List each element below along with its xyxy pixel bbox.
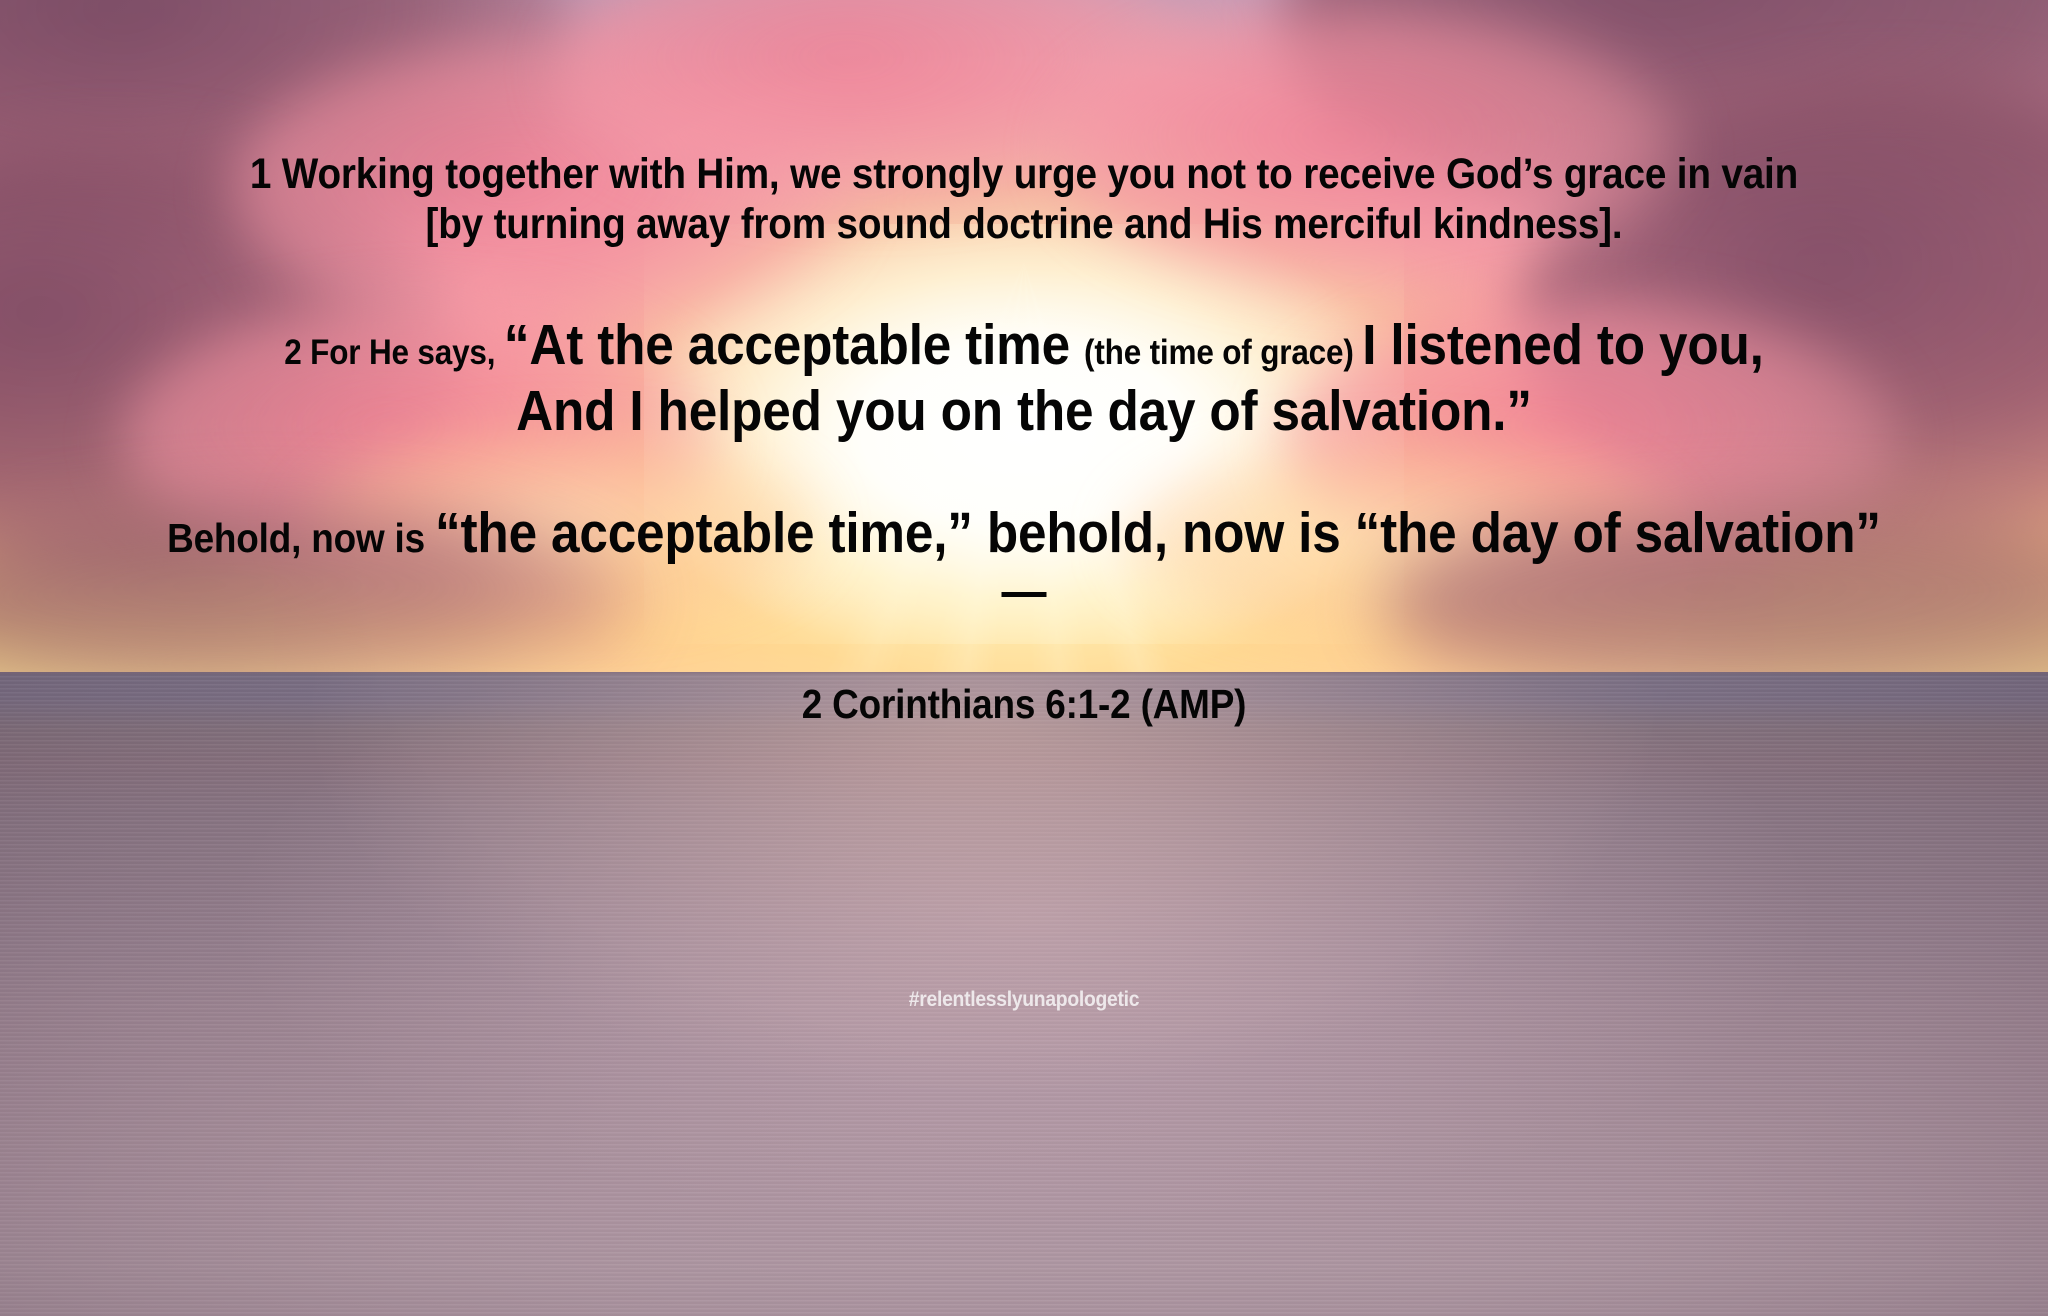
text-overlay: 1 Working together with Him, we strongly… (0, 0, 2048, 1316)
verse-2-parenthetical-text: (the time of grace) (1084, 333, 1362, 372)
verse-1-line-1: 1 Working together with Him, we strongly… (102, 150, 1945, 200)
verse-1-line-2: [by turning away from sound doctrine and… (102, 200, 1945, 250)
hashtag-watermark: #relentlesslyunapologetic (82, 988, 1966, 1012)
behold-quote-text: “the acceptable time,” behold, now is “t… (435, 501, 1881, 565)
verse-2-line-2: And I helped you on the day of salvation… (102, 378, 1945, 444)
image-canvas: 1 Working together with Him, we strongly… (0, 0, 2048, 1316)
verse-1-line-2-text: [by turning away from sound doctrine and… (426, 200, 1623, 248)
verse-2-listened-text: I listened to you, (1362, 313, 1764, 377)
em-dash: — (102, 566, 1945, 616)
scripture-verse-block: 1 Working together with Him, we strongly… (102, 150, 1945, 727)
verse-2-line-3: Behold, now is “the acceptable time,” be… (102, 500, 1945, 566)
verse-2-quote-open-text: “At the acceptable time (504, 313, 1084, 377)
scripture-citation: 2 Corinthians 6:1-2 (AMP) (102, 682, 1945, 727)
citation-spacer (102, 616, 1945, 682)
verse-2-line-1: 2 For He says, “At the acceptable time (… (102, 312, 1945, 378)
verse-2-intro-text: 2 For He says, (284, 333, 504, 372)
hashtag-text: #relentlesslyunapologetic (909, 988, 1139, 1011)
verse-2-line-2-text: And I helped you on the day of salvation… (516, 379, 1532, 443)
em-dash-text: — (1002, 563, 1047, 619)
verse-spacer-1 (102, 250, 1945, 312)
scripture-citation-text: 2 Corinthians 6:1-2 (AMP) (802, 681, 1247, 727)
behold-intro-text: Behold, now is (167, 515, 435, 561)
verse-spacer-2 (102, 444, 1945, 500)
verse-1-line-1-text: 1 Working together with Him, we strongly… (250, 150, 1798, 198)
